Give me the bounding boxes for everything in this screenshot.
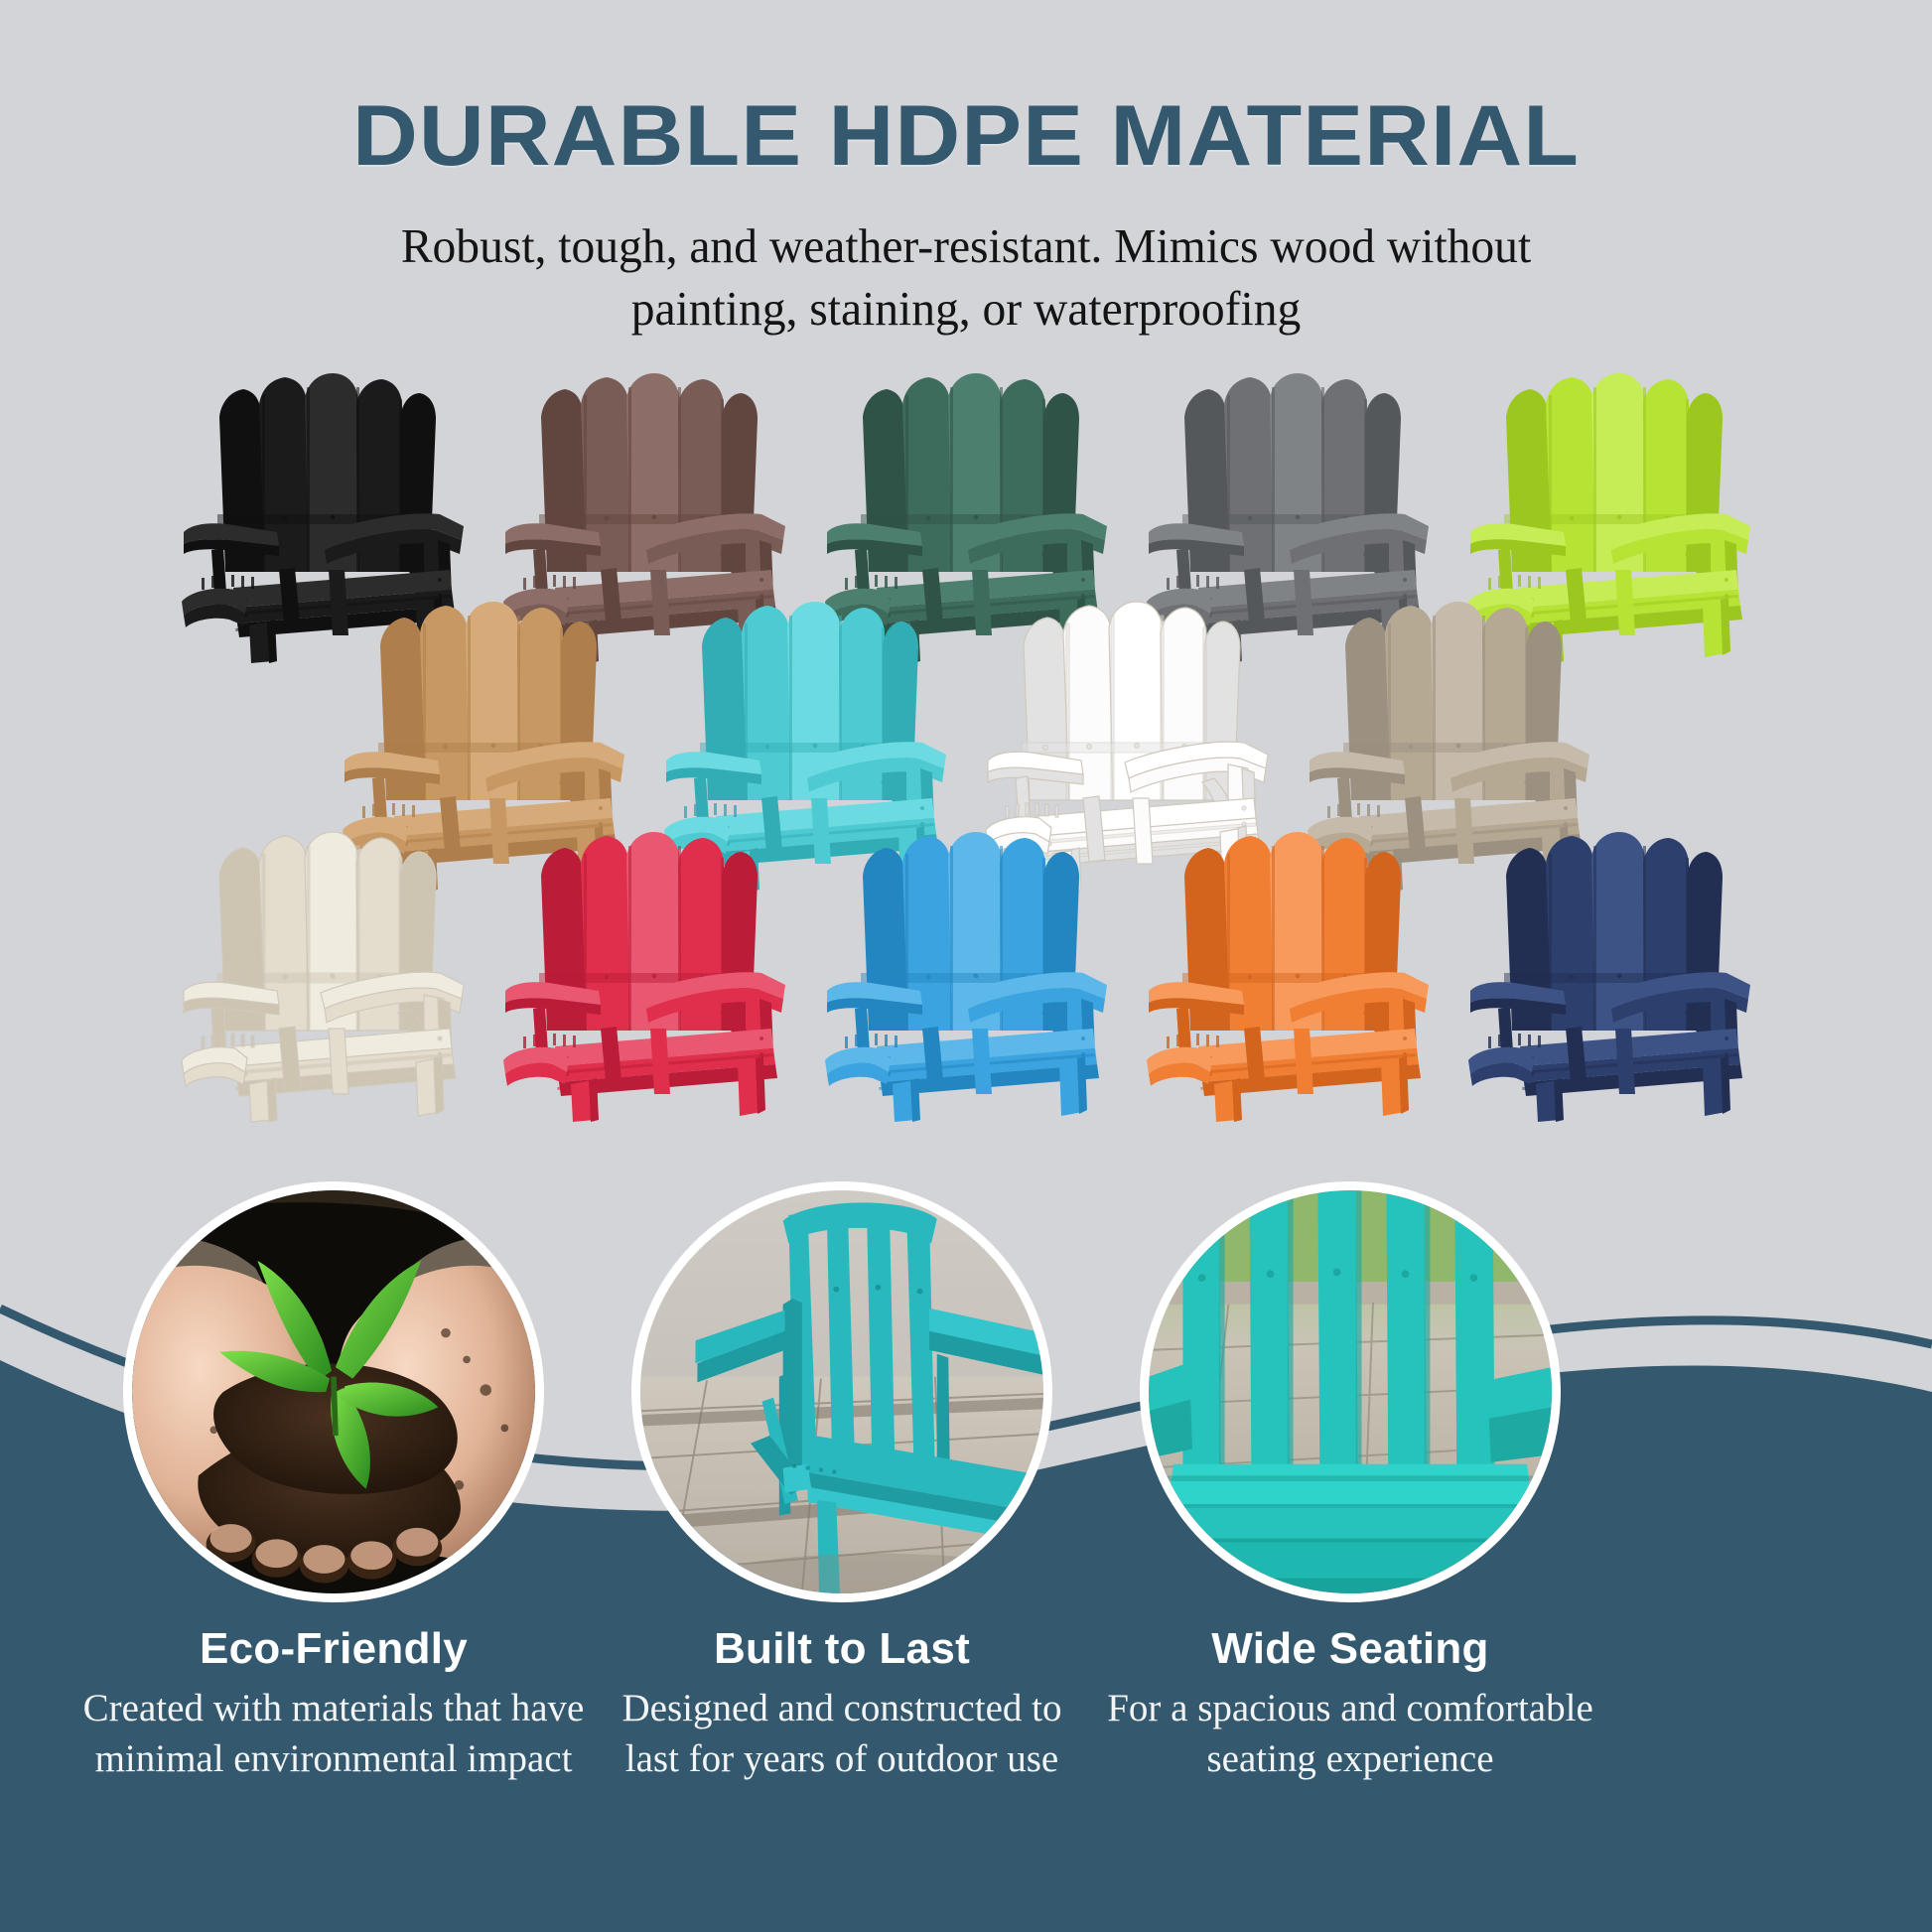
caption-heading: Wide Seating <box>1052 1624 1648 1674</box>
chair-illustration-navy <box>1460 824 1758 1122</box>
subtitle-line-1: Robust, tough, and weather-resistant. Mi… <box>401 218 1531 273</box>
subtitle-line-2: painting, staining, or waterproofing <box>631 281 1302 336</box>
caption-heading: Built to Last <box>544 1624 1140 1674</box>
page-title: DURABLE HDPE MATERIAL <box>0 0 1932 186</box>
caption-body-line-1: Designed and constructed to <box>622 1687 1062 1729</box>
caption-body-line-2: seating experience <box>1206 1737 1493 1780</box>
chair-swatch-navy[interactable] <box>1460 824 1758 1122</box>
caption-built-to-last: Built to Last Designed and constructed t… <box>544 1624 1140 1784</box>
chair-swatch-ivory[interactable] <box>174 824 472 1122</box>
chair-illustration-red <box>495 824 793 1122</box>
chair-swatch-light-blue[interactable] <box>817 824 1115 1122</box>
turquoise-chair-seat-closeup-photo <box>1149 1190 1552 1593</box>
caption-body-line-1: Created with materials that have <box>83 1687 585 1729</box>
feature-circle-built-to-last <box>631 1181 1052 1602</box>
chair-orange <box>1139 824 1437 1122</box>
feature-circle-wide-seating <box>1140 1181 1561 1602</box>
chair-navy <box>1460 824 1758 1122</box>
chair-illustration-ivory <box>174 824 472 1122</box>
feature-captions: Eco-Friendly Created with materials that… <box>0 1624 1932 1882</box>
caption-body-line-2: minimal environmental impact <box>95 1737 573 1780</box>
turquoise-chair-on-patio-photo <box>640 1190 1043 1593</box>
caption-body: Created with materials that have minimal… <box>36 1684 631 1784</box>
chair-light-blue <box>817 824 1115 1122</box>
caption-body-line-2: last for years of outdoor use <box>625 1737 1058 1780</box>
chair-row-3 <box>0 824 1932 1122</box>
chair-illustration-light-blue <box>817 824 1115 1122</box>
chair-ivory <box>174 824 472 1122</box>
caption-body-line-1: For a spacious and comfortable <box>1107 1687 1593 1729</box>
caption-wide-seating: Wide Seating For a spacious and comforta… <box>1052 1624 1648 1784</box>
caption-body: For a spacious and comfortable seating e… <box>1052 1684 1648 1784</box>
header: DURABLE HDPE MATERIAL Robust, tough, and… <box>0 0 1932 340</box>
infographic-page: DURABLE HDPE MATERIAL Robust, tough, and… <box>0 0 1932 1932</box>
caption-eco-friendly: Eco-Friendly Created with materials that… <box>36 1624 631 1784</box>
caption-heading: Eco-Friendly <box>36 1624 631 1674</box>
chair-illustration-orange <box>1139 824 1437 1122</box>
chair-red <box>495 824 793 1122</box>
chair-color-grid <box>0 365 1932 1229</box>
chair-swatch-red[interactable] <box>495 824 793 1122</box>
caption-body: Designed and constructed to last for yea… <box>544 1684 1140 1784</box>
hands-holding-seedling-in-soil-photo <box>132 1190 535 1593</box>
page-subtitle: Robust, tough, and weather-resistant. Mi… <box>29 186 1903 340</box>
feature-circle-eco-friendly <box>123 1181 544 1602</box>
feature-photo-circles <box>0 1181 1932 1618</box>
chair-swatch-orange[interactable] <box>1139 824 1437 1122</box>
